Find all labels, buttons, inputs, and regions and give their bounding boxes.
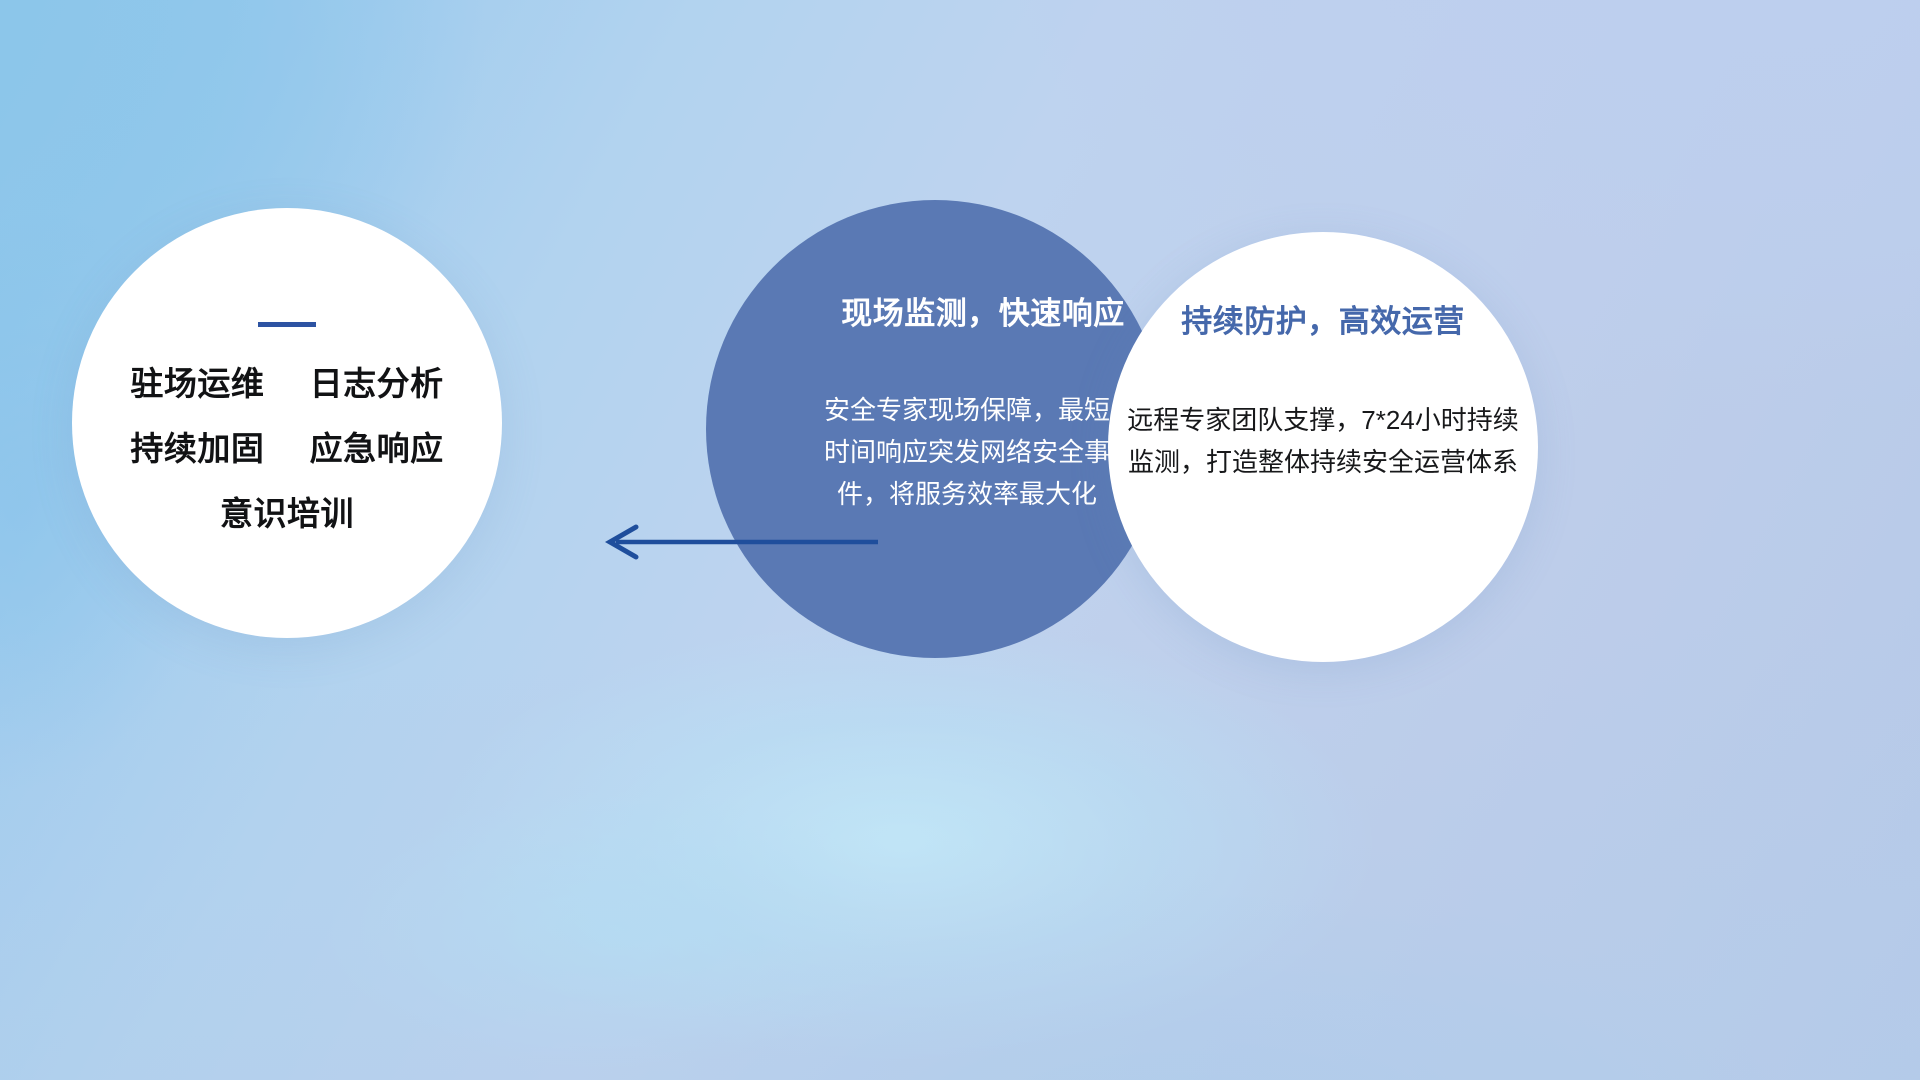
center-circle: 现场监测，快速响应 安全专家现场保障，最短时间响应突发网络安全事件，将服务效率最…	[706, 200, 1164, 658]
right-circle-body: 远程专家团队支撑，7*24小时持续监测，打造整体持续安全运营体系	[1123, 399, 1523, 483]
left-circle-keyword: 日志分析	[310, 365, 444, 402]
left-circle-keyword: 意识培训	[220, 495, 354, 532]
left-circle-line: 意识培训	[220, 497, 354, 530]
right-circle-heading: 持续防护，高效运营	[1181, 296, 1465, 341]
left-circle-line: 持续加固 应急响应	[130, 432, 443, 465]
left-circle-keyword: 应急响应	[310, 430, 444, 467]
left-circle-keyword: 持续加固	[130, 430, 264, 467]
center-circle-inner: 现场监测，快速响应 安全专家现场保障，最短时间响应突发网络安全事件，将服务效率最…	[706, 200, 1164, 658]
left-circle-divider-rule	[258, 322, 316, 327]
slide-canvas: 现场监测，快速响应 安全专家现场保障，最短时间响应突发网络安全事件，将服务效率最…	[0, 0, 1920, 1080]
left-circle-line: 驻场运维 日志分析	[130, 367, 443, 400]
center-circle-heading: 现场监测，快速响应	[841, 288, 1125, 333]
left-circle: 驻场运维 日志分析 持续加固 应急响应 意识培训	[72, 208, 502, 638]
left-circle-keyword: 驻场运维	[130, 365, 264, 402]
flow-arrow-left-icon	[590, 522, 880, 562]
right-circle: 持续防护，高效运营 远程专家团队支撑，7*24小时持续监测，打造整体持续安全运营…	[1108, 232, 1538, 662]
center-circle-body: 安全专家现场保障，最短时间响应突发网络安全事件，将服务效率最大化	[817, 389, 1117, 515]
